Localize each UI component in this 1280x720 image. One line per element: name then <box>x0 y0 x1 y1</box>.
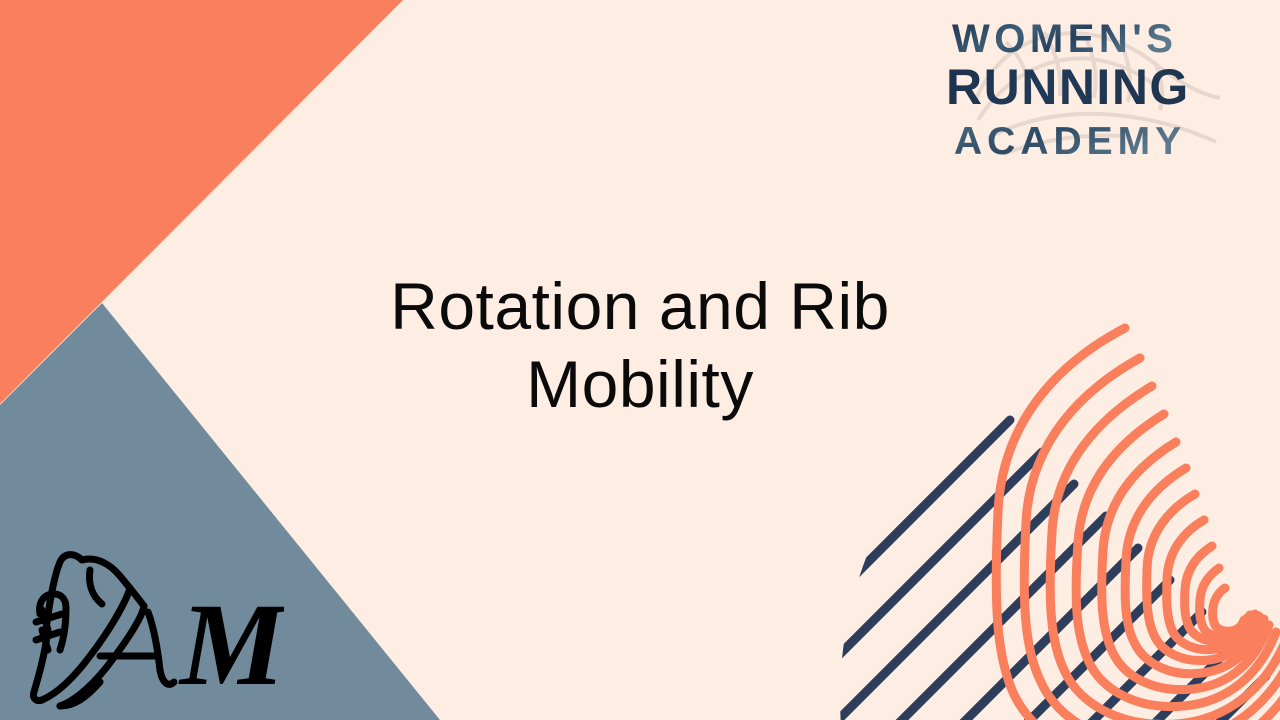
brand-logo-line-1: WOMEN'S <box>952 17 1177 61</box>
title-block: Rotation and Rib Mobility <box>330 268 950 424</box>
orange-concentric-rings <box>996 328 1280 720</box>
brand-logo: WOMEN'S RUNNING ACADEMY <box>944 8 1244 176</box>
navy-diagonal-stripes <box>760 420 1280 720</box>
page-title: Rotation and Rib Mobility <box>330 268 950 424</box>
brand-logo-line-2: RUNNING <box>946 59 1190 115</box>
running-shoe-a-icon <box>33 555 174 706</box>
brand-logo-line-3: ACADEMY <box>954 120 1186 163</box>
monogram-letter-m: M <box>178 579 284 710</box>
monogram-logo: M <box>22 526 284 712</box>
slide-canvas: WOMEN'S RUNNING ACADEMY Rotation and Rib… <box>0 0 1280 720</box>
